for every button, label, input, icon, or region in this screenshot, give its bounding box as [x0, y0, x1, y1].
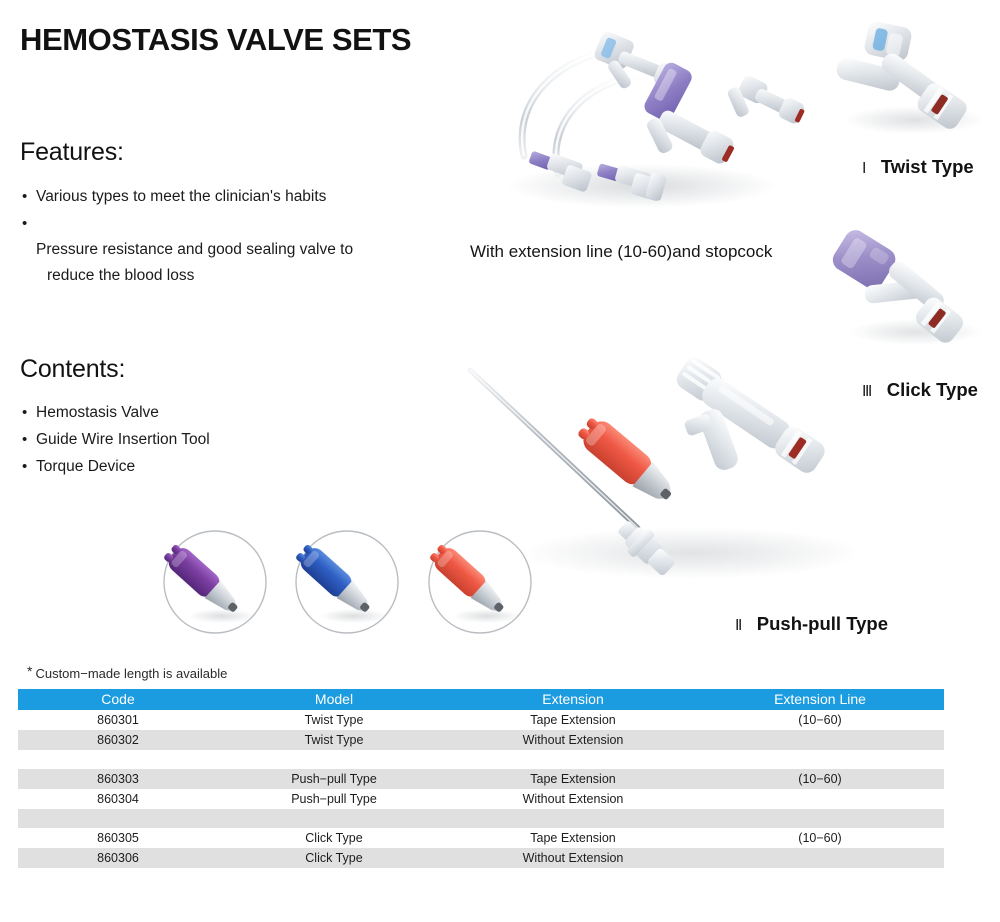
roman-numeral-one: Ⅰ — [862, 159, 868, 177]
cell-code — [18, 750, 218, 769]
list-item: • Torque Device — [22, 454, 210, 480]
footnote-text: Custom−made length is available — [35, 666, 227, 681]
bullet-icon: • — [22, 211, 36, 237]
cell-code: 860301 — [18, 710, 218, 730]
bullet-icon: • — [22, 184, 36, 210]
bullet-icon: • — [22, 427, 36, 453]
table-row: 860306Click TypeWithout Extension — [18, 848, 944, 868]
cell-extension — [450, 809, 696, 828]
cell-extension-line: (10−60) — [696, 769, 944, 789]
cell-extension-line — [696, 750, 944, 769]
cell-model: Click Type — [218, 828, 450, 848]
cell-model — [218, 809, 450, 828]
table-row: 860305Click TypeTape Extension(10−60) — [18, 828, 944, 848]
table-body: 860301Twist TypeTape Extension(10−60)860… — [18, 710, 944, 868]
cell-extension: Without Extension — [450, 848, 696, 868]
cell-extension — [450, 750, 696, 769]
bullet-icon: • — [22, 400, 36, 426]
contents-heading: Contents: — [20, 355, 125, 384]
caption-extension-set: With extension line (10-60)and stopcock — [470, 242, 772, 262]
label-push-pull-type-text: Push-pull Type — [757, 613, 888, 635]
cell-extension: Without Extension — [450, 789, 696, 809]
content-text: Guide Wire Insertion Tool — [36, 427, 210, 453]
cell-model: Click Type — [218, 848, 450, 868]
cell-extension-line — [696, 730, 944, 750]
torque-device-blue-group — [293, 531, 398, 633]
cell-extension: Tape Extension — [450, 769, 696, 789]
cell-extension-line: (10−60) — [696, 828, 944, 848]
cell-extension: Without Extension — [450, 730, 696, 750]
feature-text-line1: Pressure resistance and good sealing val… — [36, 241, 353, 258]
product-spec-table: Code Model Extension Extension Line 8603… — [18, 689, 944, 868]
cell-model: Push−pull Type — [218, 769, 450, 789]
cell-extension-line — [696, 809, 944, 828]
label-click-type-text: Click Type — [887, 379, 978, 401]
bullet-icon: • — [22, 454, 36, 480]
column-header-extension-line: Extension Line — [696, 689, 944, 710]
cell-code: 860303 — [18, 769, 218, 789]
label-twist-type-text: Twist Type — [881, 156, 974, 178]
column-header-model: Model — [218, 689, 450, 710]
table-row: 860303Push−pull TypeTape Extension(10−60… — [18, 769, 944, 789]
table-spacer-row — [18, 809, 944, 828]
cell-extension-line — [696, 848, 944, 868]
torque-device-red-group — [427, 531, 531, 633]
photo-click-type-valve — [836, 212, 998, 352]
cell-code: 860305 — [18, 828, 218, 848]
cell-model — [218, 750, 450, 769]
cell-model: Push−pull Type — [218, 789, 450, 809]
content-text: Torque Device — [36, 454, 135, 480]
cell-model: Twist Type — [218, 730, 450, 750]
cell-code — [18, 809, 218, 828]
cell-code: 860304 — [18, 789, 218, 809]
label-twist-type: Ⅰ Twist Type — [862, 156, 974, 178]
roman-numeral-three: Ⅲ — [862, 382, 874, 400]
photo-twist-type-valve — [828, 12, 996, 140]
product-datasheet-page: HEMOSTASIS VALVE SETS Features: • Variou… — [0, 0, 1000, 922]
list-item: • Hemostasis Valve — [22, 400, 210, 426]
asterisk-icon: * — [27, 663, 32, 679]
cell-extension: Tape Extension — [450, 828, 696, 848]
cell-code: 860302 — [18, 730, 218, 750]
content-text: Hemostasis Valve — [36, 400, 159, 426]
list-item: • Various types to meet the clinician's … — [22, 184, 353, 210]
column-header-extension: Extension — [450, 689, 696, 710]
contents-list: • Hemostasis Valve • Guide Wire Insertio… — [22, 400, 210, 481]
cell-model: Twist Type — [218, 710, 450, 730]
list-item: • Guide Wire Insertion Tool — [22, 427, 210, 453]
photo-torque-devices — [160, 516, 560, 656]
features-list: • Various types to meet the clinician's … — [22, 184, 353, 316]
torque-device-purple-group — [161, 531, 266, 633]
cell-extension: Tape Extension — [450, 710, 696, 730]
label-click-type: Ⅲ Click Type — [862, 379, 978, 401]
feature-text-line2: reduce the blood loss — [36, 263, 353, 289]
label-push-pull-type: Ⅱ Push-pull Type — [735, 613, 888, 635]
list-item: • Pressure resistance and good sealing v… — [22, 211, 353, 315]
table-footnote: *Custom−made length is available — [27, 663, 227, 681]
table-spacer-row — [18, 750, 944, 769]
table-header-row: Code Model Extension Extension Line — [18, 689, 944, 710]
roman-numeral-two: Ⅱ — [735, 616, 744, 634]
table-row: 860304Push−pull TypeWithout Extension — [18, 789, 944, 809]
feature-text: Pressure resistance and good sealing val… — [36, 211, 353, 315]
cell-extension-line: (10−60) — [696, 710, 944, 730]
features-heading: Features: — [20, 138, 124, 167]
feature-text: Various types to meet the clinician's ha… — [36, 184, 326, 210]
photo-extension-line-valve-set — [472, 8, 802, 220]
table-row: 860301Twist TypeTape Extension(10−60) — [18, 710, 944, 730]
cell-code: 860306 — [18, 848, 218, 868]
page-title: HEMOSTASIS VALVE SETS — [20, 22, 411, 58]
column-header-code: Code — [18, 689, 218, 710]
table-row: 860302Twist TypeWithout Extension — [18, 730, 944, 750]
cell-extension-line — [696, 789, 944, 809]
